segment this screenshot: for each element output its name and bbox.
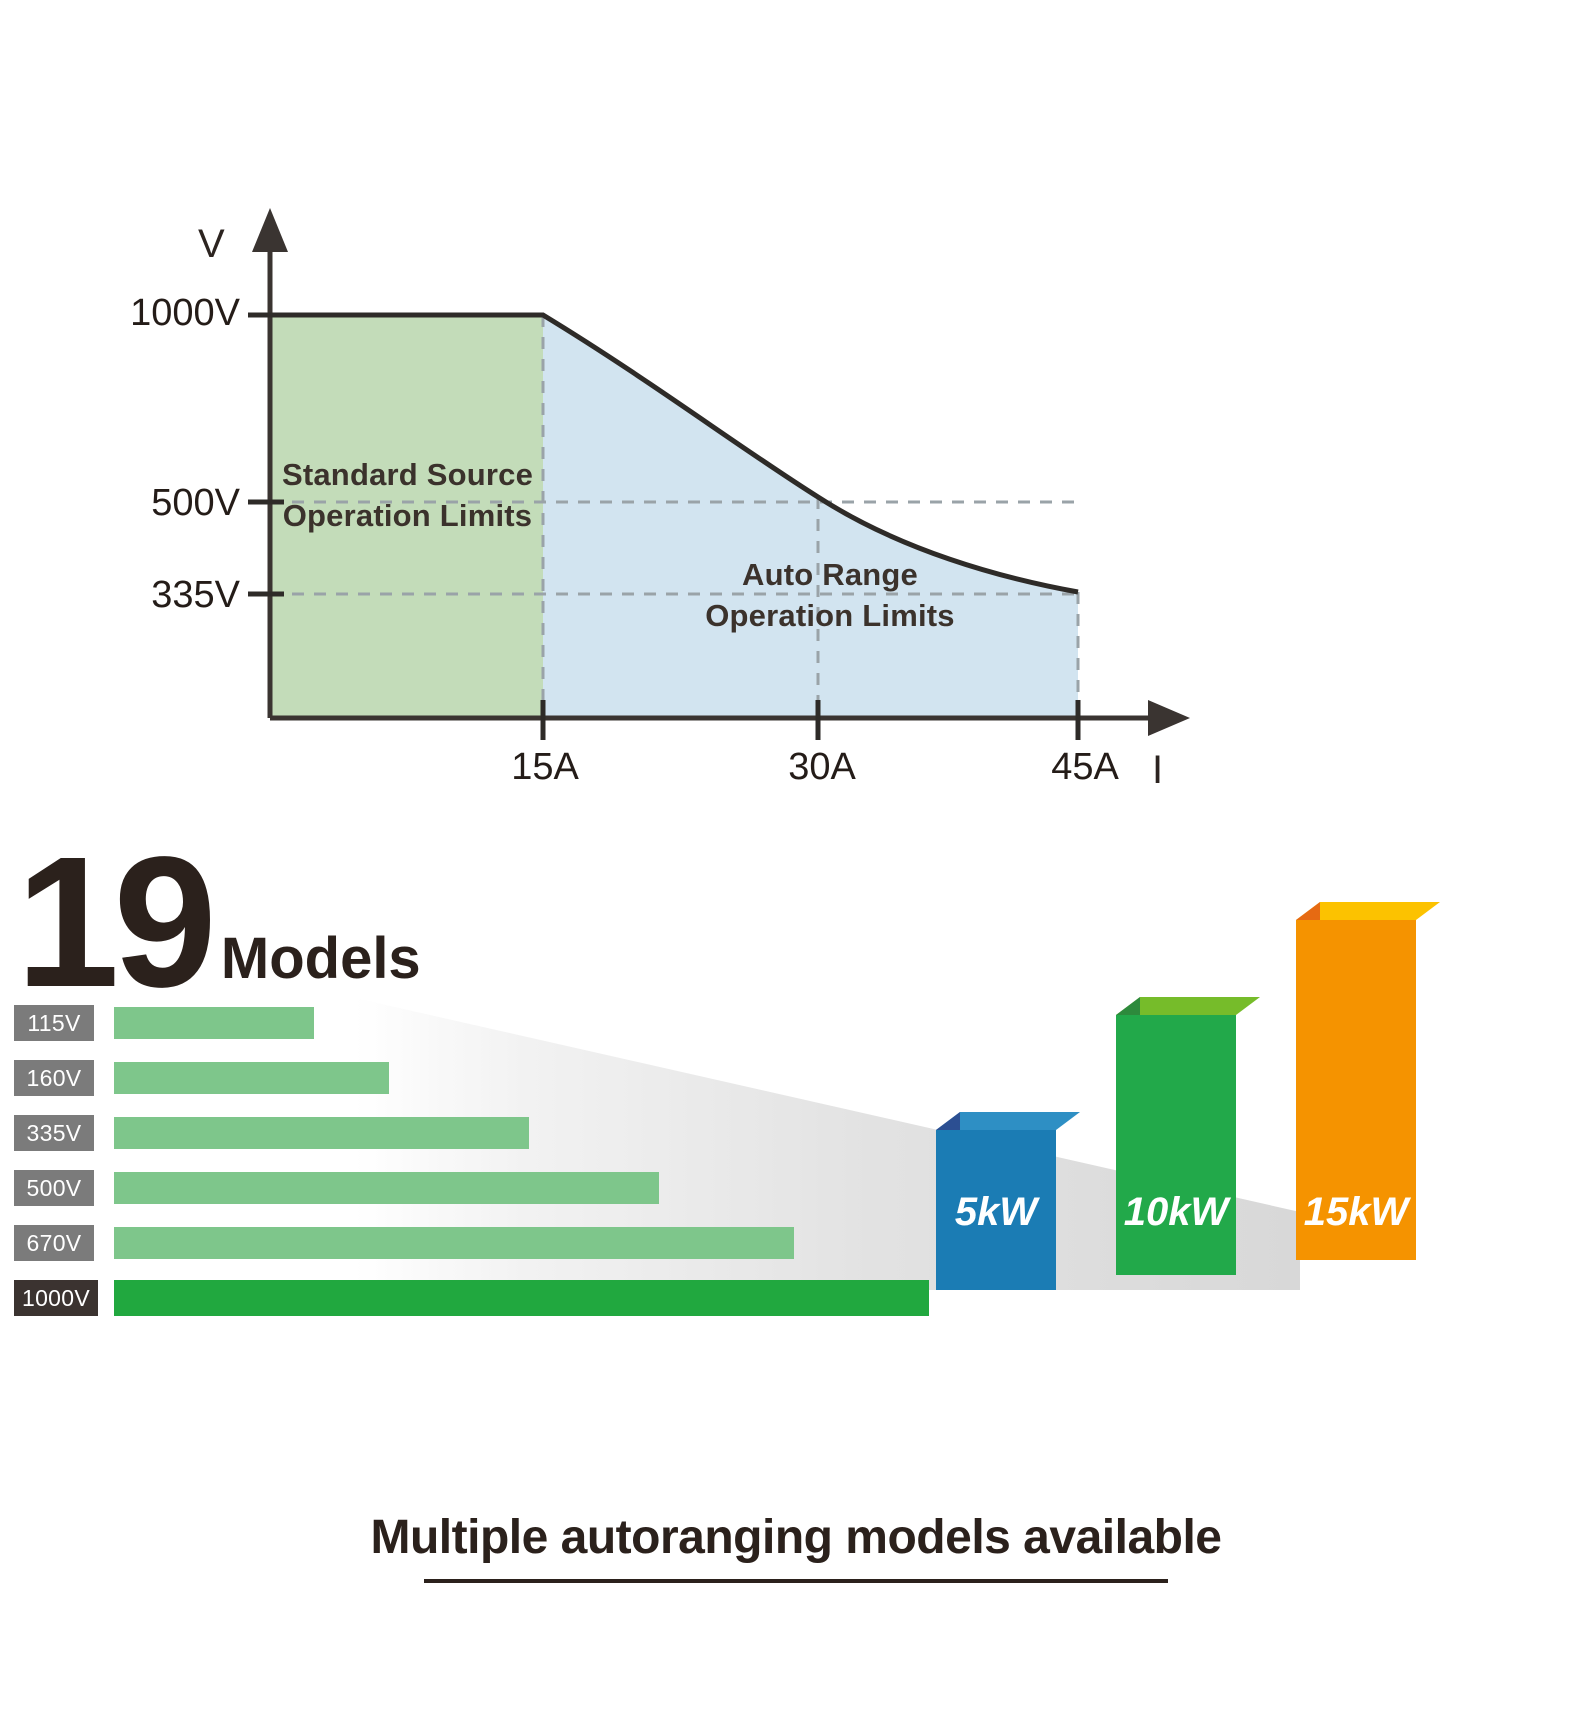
xtick-label-45a: 45A bbox=[1005, 746, 1165, 789]
voltage-bar-115v bbox=[114, 1007, 314, 1039]
voltage-bar-1000v bbox=[114, 1280, 929, 1316]
voltage-bar-670v bbox=[114, 1227, 794, 1259]
auto-range-region bbox=[543, 315, 1078, 718]
auto-range-label-line1: Auto Range bbox=[640, 555, 1020, 596]
voltage-chip-1000v: 1000V bbox=[14, 1280, 98, 1316]
voltage-chip-500v: 500V bbox=[14, 1170, 94, 1206]
power-block-10kw-front bbox=[1116, 1015, 1236, 1275]
power-blocks-group bbox=[900, 880, 1460, 1350]
ytick-label-1000v: 1000V bbox=[30, 292, 240, 335]
voltage-chip-670v: 670V bbox=[14, 1225, 94, 1261]
auto-range-region-label: Auto Range Operation Limits bbox=[640, 555, 1020, 637]
voltage-row-335v[interactable]: 335V bbox=[14, 1115, 1014, 1159]
standard-source-region-label: Standard Source Operation Limits bbox=[270, 455, 545, 537]
xtick-label-15a: 15A bbox=[465, 746, 625, 789]
caption-text: Multiple autoranging models available bbox=[0, 1510, 1592, 1565]
voltage-chip-335v: 335V bbox=[14, 1115, 94, 1151]
voltage-row-670v[interactable]: 670V bbox=[14, 1225, 1014, 1269]
standard-source-label-line2: Operation Limits bbox=[270, 496, 545, 537]
voltage-bar-500v bbox=[114, 1172, 659, 1204]
voltage-row-160v[interactable]: 160V bbox=[14, 1060, 1014, 1104]
voltage-chip-160v: 160V bbox=[14, 1060, 94, 1096]
standard-source-label-line1: Standard Source bbox=[270, 455, 545, 496]
power-block-label-5kw: 5kW bbox=[936, 1190, 1056, 1235]
caption-block: Multiple autoranging models available bbox=[0, 1510, 1592, 1583]
x-axis-arrowhead bbox=[1148, 700, 1190, 736]
voltage-row-115v[interactable]: 115V bbox=[14, 1005, 1014, 1049]
caption-underline bbox=[424, 1579, 1168, 1583]
models-panel: 19Models 115V 160V 335V 500V bbox=[0, 820, 1592, 1725]
auto-range-label-line2: Operation Limits bbox=[640, 596, 1020, 637]
voltage-chip-115v: 115V bbox=[14, 1005, 94, 1041]
voltage-row-1000v[interactable]: 1000V bbox=[14, 1280, 1014, 1324]
power-block-label-10kw: 10kW bbox=[1116, 1190, 1236, 1235]
chart-canvas bbox=[0, 0, 1592, 820]
power-block-label-15kw: 15kW bbox=[1296, 1190, 1416, 1235]
operation-limits-chart: V I 1000V 500V 335V 15A 30A 45A Standard… bbox=[0, 0, 1592, 820]
y-axis-label: V bbox=[198, 222, 225, 267]
voltage-bar-160v bbox=[114, 1062, 389, 1094]
ytick-label-335v: 335V bbox=[30, 574, 240, 617]
voltage-row-500v[interactable]: 500V bbox=[14, 1170, 1014, 1214]
xtick-label-30a: 30A bbox=[742, 746, 902, 789]
voltage-bar-list: 115V 160V 335V 500V 670V 1000V bbox=[14, 1005, 1014, 1335]
voltage-bar-335v bbox=[114, 1117, 529, 1149]
y-axis-arrowhead bbox=[252, 208, 288, 252]
ytick-label-500v: 500V bbox=[30, 482, 240, 525]
